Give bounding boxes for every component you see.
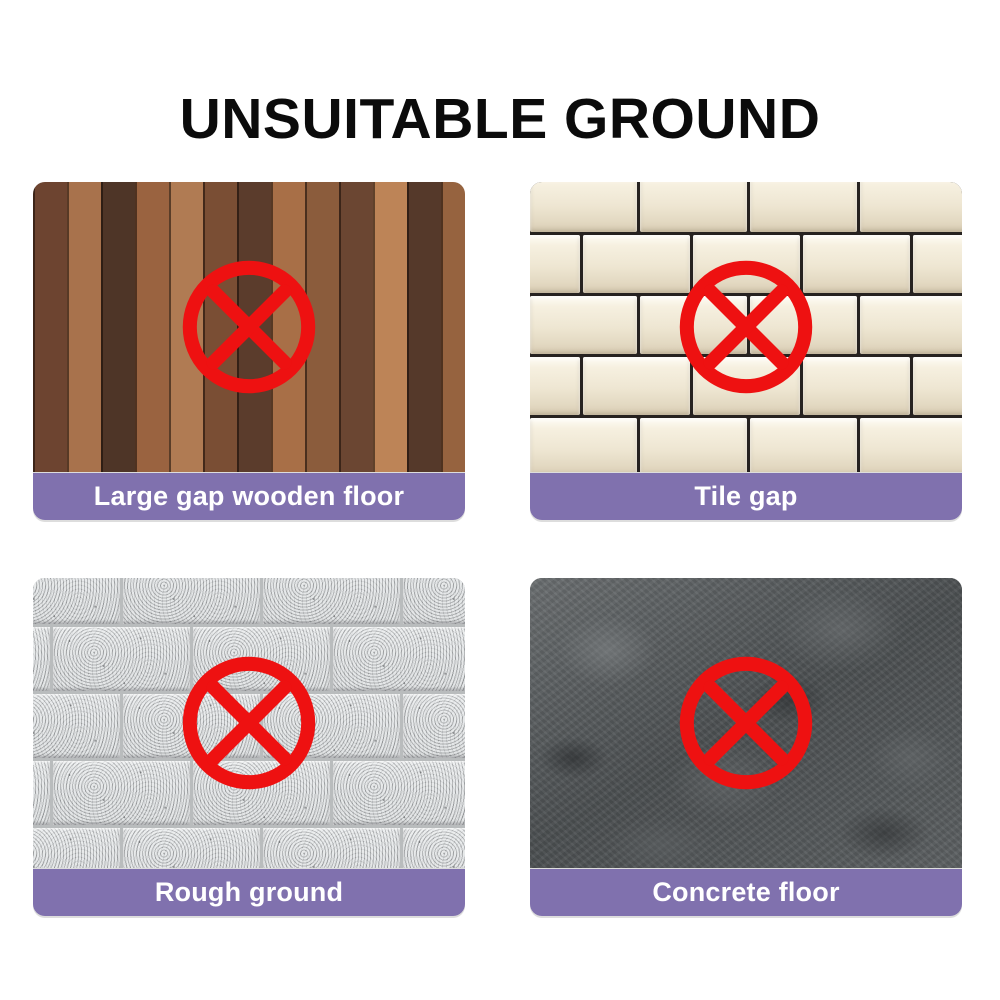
photo-tile-wall <box>530 182 962 472</box>
texture-rough-stone <box>33 578 465 868</box>
card-concrete-floor[interactable]: Concrete floor <box>530 578 962 918</box>
card-label: Tile gap <box>694 481 797 512</box>
card-label: Rough ground <box>155 877 343 908</box>
caption-band: Rough ground <box>33 869 465 916</box>
caption-band: Large gap wooden floor <box>33 473 465 520</box>
page-title: UNSUITABLE GROUND <box>0 90 1000 150</box>
card-tile-gap[interactable]: Tile gap <box>530 182 962 522</box>
texture-concrete <box>530 578 962 868</box>
caption-band: Concrete floor <box>530 869 962 916</box>
photo-wooden-floor <box>33 182 465 472</box>
card-rough-ground[interactable]: Rough ground <box>33 578 465 918</box>
card-label: Concrete floor <box>652 877 839 908</box>
caption-band: Tile gap <box>530 473 962 520</box>
unsuitable-ground-infographic: UNSUITABLE GROUND Large gap wooden floor <box>0 0 1000 1000</box>
card-large-gap-wooden-floor[interactable]: Large gap wooden floor <box>33 182 465 522</box>
texture-subway-tiles <box>530 182 962 472</box>
photo-concrete <box>530 578 962 868</box>
photo-stone-blocks <box>33 578 465 868</box>
texture-wood-planks <box>33 182 465 472</box>
card-label: Large gap wooden floor <box>94 481 404 512</box>
ground-type-grid: Large gap wooden floor <box>33 182 967 912</box>
